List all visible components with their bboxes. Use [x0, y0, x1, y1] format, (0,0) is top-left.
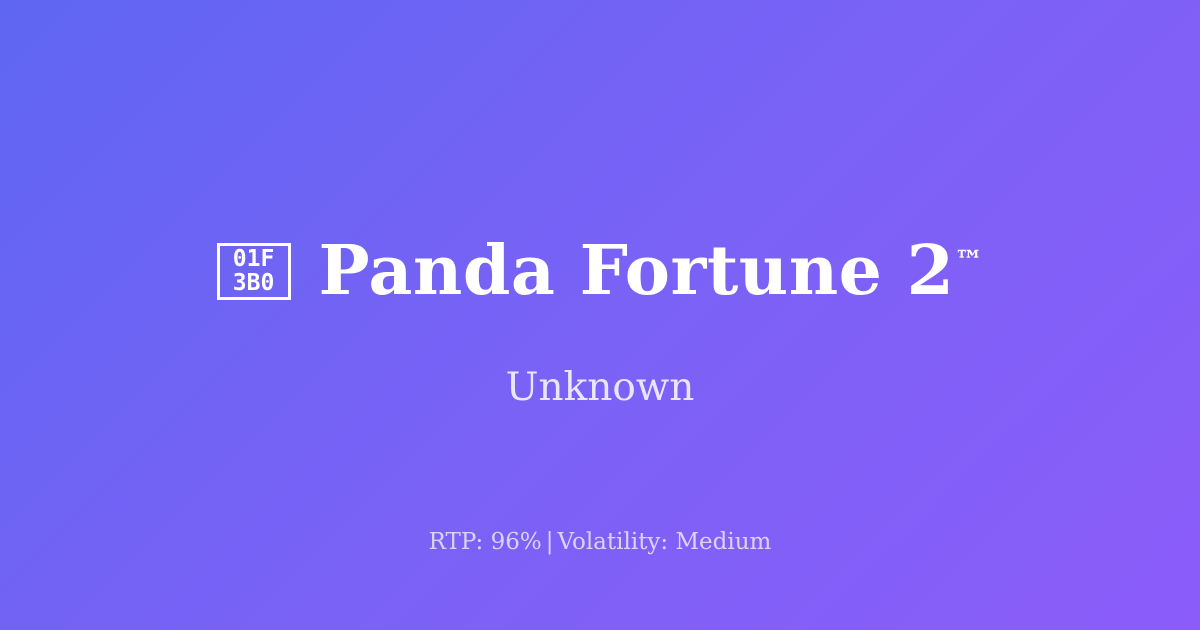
page-title: Panda Fortune 2™	[319, 232, 984, 310]
provider-label: Unknown	[0, 363, 1200, 413]
tofu-codepoint-bottom: 3B0	[233, 271, 275, 295]
game-title-text: Panda Fortune 2	[319, 231, 955, 311]
game-stats: RTP: 96%|Volatility: Medium	[0, 526, 1200, 558]
stats-separator: |	[542, 529, 558, 555]
rtp-value: RTP: 96%	[429, 529, 542, 555]
trademark-symbol: ™	[954, 243, 983, 277]
game-promo-card: 01F 3B0 Panda Fortune 2™ Unknown RTP: 96…	[0, 0, 1200, 630]
volatility-value: Volatility: Medium	[557, 529, 771, 555]
slot-machine-icon: 01F 3B0	[217, 243, 291, 300]
tofu-codepoint-top: 01F	[233, 247, 275, 271]
title-row: 01F 3B0 Panda Fortune 2™	[0, 232, 1200, 310]
